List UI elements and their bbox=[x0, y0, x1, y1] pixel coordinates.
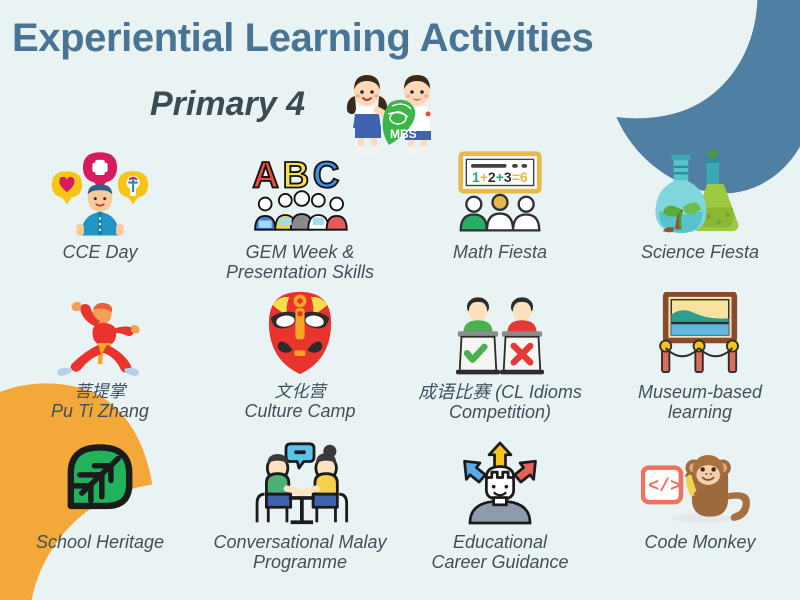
activity-label-cn: 菩提掌 bbox=[51, 382, 149, 401]
page-title: Experiential Learning Activities bbox=[12, 16, 593, 61]
cce-day-icon bbox=[48, 146, 152, 236]
math-fiesta-icon: 1+2+3=6 bbox=[448, 146, 552, 236]
activity-row: 菩提掌 Pu Ti Zhang bbox=[0, 288, 800, 438]
activity-label: 文化营 Culture Camp bbox=[242, 382, 357, 421]
activity-label: Conversational MalayProgramme bbox=[211, 532, 388, 572]
debate-podium-icon bbox=[445, 288, 555, 376]
activity-cell-conversational-malay[interactable]: Conversational MalayProgramme bbox=[200, 438, 400, 593]
two-students-holding-leaf-illustration: MBS bbox=[335, 62, 445, 157]
activity-cell-culture-camp[interactable]: 文化营 Culture Camp bbox=[200, 288, 400, 438]
svg-text:1+2+3=6: 1+2+3=6 bbox=[472, 169, 528, 185]
gem-week-icon: A B C bbox=[245, 146, 355, 236]
activity-row: School Heritage bbox=[0, 438, 800, 593]
activity-cell-gem-week[interactable]: A B C bbox=[200, 146, 400, 288]
code-monkey-icon: </> bbox=[641, 438, 759, 526]
svg-text:A: A bbox=[252, 155, 278, 196]
activity-cell-career-guidance[interactable]: EducationalCareer Guidance bbox=[400, 438, 600, 593]
svg-text:C: C bbox=[313, 155, 339, 196]
activity-label: School Heritage bbox=[34, 532, 166, 552]
activity-cell-math-fiesta[interactable]: 1+2+3=6 Math Fiesta bbox=[400, 146, 600, 288]
activity-label: GEM Week &Presentation Skills bbox=[224, 242, 376, 282]
science-fiesta-icon bbox=[650, 146, 750, 236]
activity-label: Science Fiesta bbox=[639, 242, 761, 262]
activity-label: Math Fiesta bbox=[451, 242, 549, 262]
activity-cell-code-monkey[interactable]: </> bbox=[600, 438, 800, 593]
code-badge-text: </> bbox=[648, 477, 681, 497]
mbs-badge-text: MBS bbox=[390, 127, 417, 141]
activity-label: 菩提掌 Pu Ti Zhang bbox=[49, 382, 151, 421]
conversation-icon bbox=[244, 438, 356, 526]
activity-label-en: Pu Ti Zhang bbox=[51, 401, 149, 421]
activity-cell-museum[interactable]: Museum-basedlearning bbox=[600, 288, 800, 438]
martial-arts-icon bbox=[47, 288, 153, 376]
activities-grid: CCE Day A B C bbox=[0, 146, 800, 593]
activity-label: Museum-basedlearning bbox=[636, 382, 764, 422]
museum-painting-icon bbox=[649, 288, 751, 376]
svg-text:B: B bbox=[283, 155, 309, 196]
activity-label: Code Monkey bbox=[642, 532, 757, 552]
career-arrows-icon bbox=[450, 438, 550, 526]
activity-cell-cl-idioms[interactable]: 成语比赛 (CL IdiomsCompetition) bbox=[400, 288, 600, 438]
slide-canvas: Experiential Learning Activities Primary… bbox=[0, 0, 800, 600]
leaf-icon bbox=[54, 438, 146, 526]
page-subtitle: Primary 4 bbox=[150, 85, 305, 124]
activity-label: EducationalCareer Guidance bbox=[429, 532, 570, 572]
activity-label: 成语比赛 (CL IdiomsCompetition) bbox=[416, 382, 584, 422]
activity-cell-school-heritage[interactable]: School Heritage bbox=[0, 438, 200, 593]
mbs-leaf-badge: MBS bbox=[383, 100, 417, 145]
activity-cell-science-fiesta[interactable]: Science Fiesta bbox=[600, 146, 800, 288]
activity-row: CCE Day A B C bbox=[0, 146, 800, 288]
activity-cell-cce-day[interactable]: CCE Day bbox=[0, 146, 200, 288]
activity-label-cn: 文化营 bbox=[244, 382, 355, 401]
activity-label: CCE Day bbox=[60, 242, 139, 262]
activity-cell-pu-ti-zhang[interactable]: 菩提掌 Pu Ti Zhang bbox=[0, 288, 200, 438]
activity-label-en: Culture Camp bbox=[244, 401, 355, 421]
opera-mask-icon bbox=[254, 288, 346, 376]
